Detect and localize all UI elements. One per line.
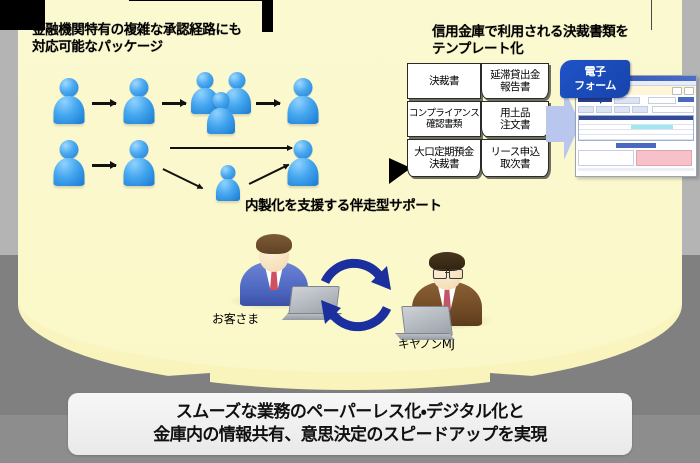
heading-support: 内製化を支援する伴走型サポート	[245, 198, 442, 215]
person-icon	[286, 140, 320, 186]
summary-banner: スムーズな業務のペーパーレス化・デジタル化と 金庫内の情報共有、意思決定のスピー…	[68, 393, 632, 455]
screen-data-grid[interactable]	[578, 115, 694, 141]
document-card[interactable]: 決裁書	[407, 63, 481, 99]
document-card[interactable]: 大口定期預金 決裁書	[407, 139, 481, 177]
heading-document-templates: 信用金庫で利用される決裁書類を テンプレート化	[432, 24, 629, 58]
toolbar-button[interactable]	[684, 87, 694, 95]
exchange-cycle-icon	[313, 252, 399, 338]
screen-alert-panel	[636, 150, 692, 166]
vendor-glasses-bridge-icon	[445, 272, 449, 273]
document-card[interactable]: 用土品 注文書	[481, 101, 549, 137]
grid-row-highlight	[631, 125, 673, 129]
heading-approval-routes: 金融機関特有の複雑な承認経路にも 対応可能なパッケージ	[32, 22, 242, 56]
screen-field[interactable]	[614, 106, 630, 113]
vendor-glasses-icon	[449, 269, 463, 279]
document-card[interactable]: 延滞貸出金 報告書	[481, 63, 549, 99]
person-icon	[122, 78, 156, 124]
screen-button[interactable]	[678, 97, 694, 102]
screen-field[interactable]	[596, 106, 612, 113]
toolbar-button[interactable]	[672, 87, 682, 95]
flow-arrow-icon	[92, 164, 116, 167]
toolbar-spacer	[630, 88, 670, 94]
customer-hair	[256, 234, 292, 254]
crop-artifact-top-bar	[262, 0, 273, 32]
flow-arrow-icon	[162, 102, 186, 105]
crop-artifact-top-edge	[129, 0, 269, 1]
screen-footer	[578, 168, 694, 171]
screen-panel[interactable]	[578, 150, 634, 166]
screen-field[interactable]	[632, 106, 648, 113]
person-icon	[206, 92, 236, 134]
grid-row[interactable]	[579, 135, 693, 140]
slide-canvas: 金融機関特有の複雑な承認経路にも 対応可能なパッケージ 信用金庫で利用される決裁…	[0, 0, 700, 463]
person-icon	[286, 78, 320, 124]
vendor-label: キヤノンMJ	[398, 336, 455, 352]
summary-banner-text: スムーズな業務のペーパーレス化・デジタル化と 金庫内の情報共有、意思決定のスピー…	[153, 401, 547, 448]
electronic-form-badge: 電子 フォーム	[560, 60, 630, 98]
screen-field[interactable]	[648, 97, 676, 104]
customer-label: お客さま	[212, 310, 259, 327]
document-card[interactable]: リース申込 取次書	[481, 139, 549, 177]
document-card[interactable]: コンプライアンス 確認書類	[407, 101, 481, 137]
screen-panels-row	[578, 150, 694, 166]
flow-arrow-icon	[92, 102, 116, 105]
person-icon	[215, 165, 241, 201]
person-icon	[52, 140, 86, 186]
flow-arrow-icon	[170, 147, 292, 149]
person-icon	[52, 78, 86, 124]
screen-body	[576, 95, 696, 173]
screen-field[interactable]	[578, 106, 594, 113]
screen-header-row	[578, 97, 694, 104]
screen-field[interactable]	[614, 97, 640, 104]
person-icon	[122, 140, 156, 186]
divider-line-top-right	[651, 0, 652, 30]
flow-arrow-icon	[256, 102, 280, 105]
screen-field[interactable]	[652, 106, 694, 113]
screen-subheader-row	[578, 106, 694, 113]
screen-button[interactable]	[616, 143, 656, 148]
screen-status-row	[578, 143, 694, 148]
vendor-glasses-icon	[433, 269, 447, 279]
